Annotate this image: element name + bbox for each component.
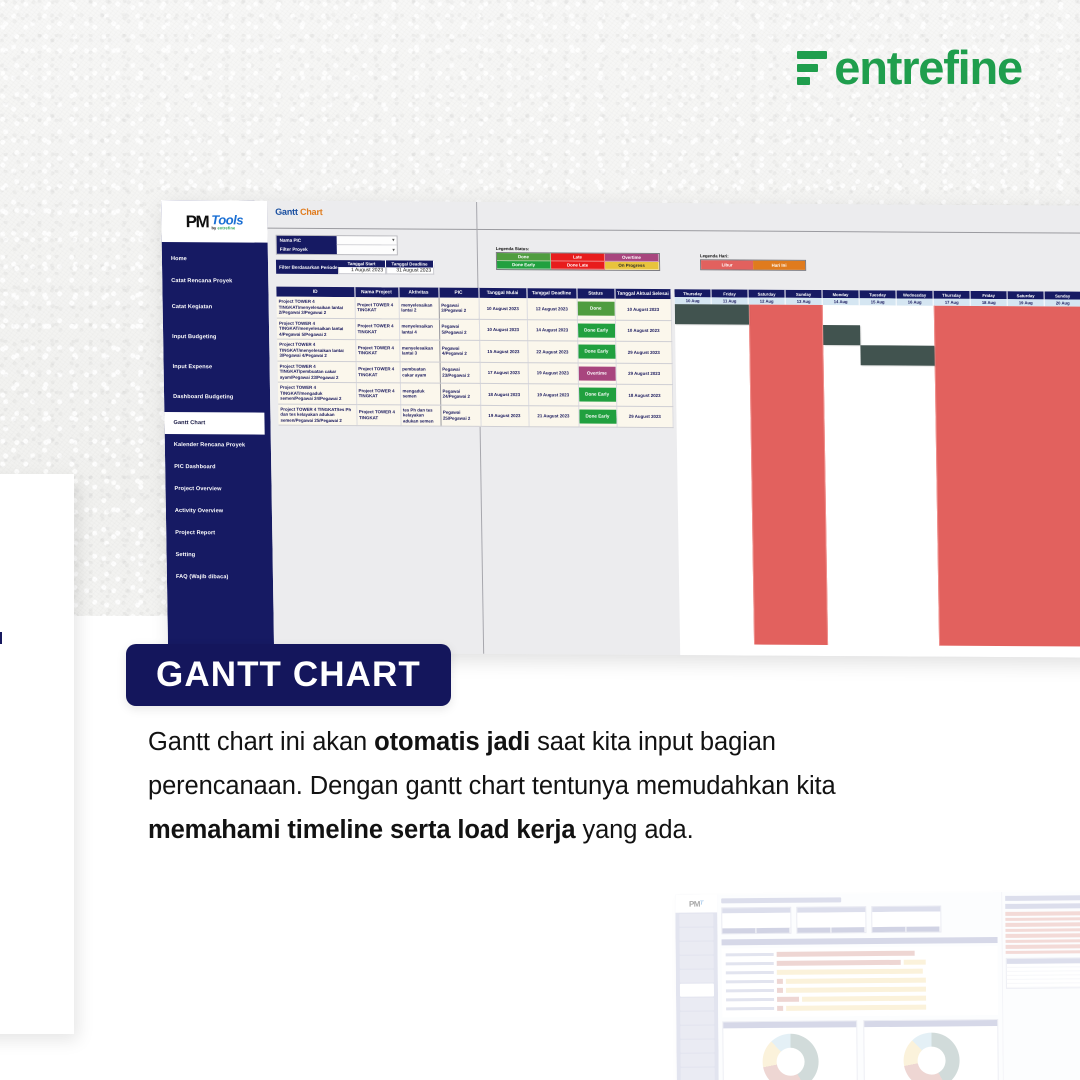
- cell-pic: Pegawai 25/Pegawai 2: [440, 405, 480, 427]
- cell-status: Done Early: [578, 406, 616, 428]
- col-id: ID: [276, 287, 354, 297]
- sidebar-item-pic-dashboard[interactable]: PIC Dashboard: [165, 456, 271, 479]
- thumb-sidebar: PMT: [675, 894, 719, 1080]
- thumb-nav-item: [680, 969, 714, 982]
- cell-project: Project TOWER 4 TINGKAT: [355, 318, 399, 340]
- thumb-kpi-cards: [721, 905, 997, 934]
- nama-pic-dropdown[interactable]: ▾: [337, 236, 397, 245]
- pm-logo-mark: PM: [185, 213, 208, 230]
- pm-tools-logo: PM Tools by entrefine: [161, 200, 268, 243]
- cell-aktivitas: menyelesaikan lantai 4: [399, 318, 439, 340]
- thumb-bar-row: [726, 994, 994, 1003]
- col-tanggal-deadline: Tanggal Deadline: [526, 288, 576, 298]
- sidebar-nav: Home Catat Rencana Proyek Catat Kegiatan…: [162, 242, 273, 589]
- vertical-divider: [476, 202, 484, 654]
- periode-label: Filter Berdasarkan Periode: [276, 260, 338, 274]
- cell-selesai: 29 August 2023: [615, 341, 672, 363]
- cell-mulai: 10 August 2023: [479, 298, 527, 319]
- thumb-right-title: [1005, 895, 1080, 901]
- adjacent-card-nav: [0, 632, 2, 644]
- thumb-right-bar: [1006, 944, 1080, 948]
- page-title-part2: Chart: [300, 207, 323, 217]
- thumb-nav-item: [680, 1011, 714, 1024]
- page-title-part1: Gantt: [275, 207, 300, 217]
- sidebar-item-project-report[interactable]: Project Report: [166, 522, 272, 545]
- gantt-day-column: Thursday10 Aug: [674, 289, 711, 304]
- section-badge-label: GANTT CHART: [156, 657, 421, 692]
- sidebar-item-catat-kegiatan[interactable]: Catat Kegiatan: [162, 292, 268, 323]
- legend-hari-grid: Libur Hari Ini: [700, 259, 806, 271]
- gantt-holiday-column: [934, 306, 1080, 647]
- cell-mulai: 10 August 2023: [479, 319, 527, 341]
- pm-logo-by: by entrefine: [211, 226, 243, 230]
- cell-selesai: 10 August 2023: [615, 320, 672, 342]
- legend-done-early: Done Early: [497, 261, 551, 269]
- table-body: Project TOWER 4 TINGKAT/menyelesaikan la…: [277, 297, 674, 428]
- cell-status: Overtime: [578, 363, 616, 385]
- cell-mulai: 15 August 2023: [479, 340, 527, 362]
- para-seg-2: otomatis jadi: [374, 728, 530, 756]
- table-row[interactable]: Project TOWER 4 TINGKAT/pembuatan cakar …: [278, 361, 673, 385]
- thumb-nav-item: [680, 955, 714, 968]
- gantt-day-column: Thursday17 Aug: [934, 291, 971, 306]
- cell-selesai: 29 August 2023: [616, 406, 673, 428]
- slide-canvas: entrefine PM Tools by entrefine Home Cat…: [0, 0, 1080, 1080]
- gantt-holiday-column: [749, 305, 828, 645]
- col-aktivitas: Aktivitas: [398, 287, 438, 297]
- gantt-day-column: Sunday13 Aug: [785, 290, 822, 305]
- entrefine-wordmark: entrefine: [834, 44, 1022, 91]
- thumb-nav-item: [680, 941, 714, 954]
- cell-status: Done Early: [578, 384, 616, 406]
- thumb-nav-item: [681, 1067, 715, 1080]
- cell-deadline: 12 August 2023: [527, 298, 577, 319]
- thumb-right-table: [1006, 957, 1080, 989]
- filter-proyek-dropdown[interactable]: ▾: [337, 245, 397, 254]
- cell-id: Project TOWER 4 TINGKAT/menyelesaikan la…: [277, 318, 355, 340]
- cell-aktivitas: pembuatan cakar ayam: [400, 361, 440, 383]
- cell-selesai: 18 August 2023: [616, 384, 673, 406]
- thumb-nav-item: [680, 1039, 714, 1052]
- thumb-right-bar: [1006, 939, 1080, 943]
- dashboard-preview-thumbnail: PMT: [675, 891, 1080, 1080]
- cell-aktivitas: tes Ph dan tes kelayakan adukan semen: [400, 404, 440, 426]
- thumb-donut-chart: [863, 1019, 999, 1080]
- thumb-nav-item: [680, 1025, 714, 1038]
- cell-project: Project TOWER 4 TINGKAT: [356, 383, 400, 405]
- cell-project: Project TOWER 4 TINGKAT: [356, 361, 400, 383]
- cell-id: Project TOWER 4 TINGKAT/tes Ph dan tes k…: [278, 404, 356, 426]
- tanggal-deadline-input[interactable]: 31 August 2023: [386, 267, 434, 274]
- cell-selesai: 29 August 2023: [616, 363, 673, 385]
- cell-selesai: 10 August 2023: [615, 299, 672, 320]
- cell-mulai: 17 August 2023: [480, 362, 528, 384]
- cell-mulai: 18 August 2023: [480, 383, 528, 405]
- sidebar-item-catat-rencana-proyek[interactable]: Catat Rencana Proyek: [162, 270, 268, 293]
- thumb-logo: PMT: [675, 894, 717, 912]
- legend-hari-title: Legenda Hari:: [700, 253, 806, 259]
- legend-hari: Legenda Hari: Libur Hari Ini: [700, 253, 806, 271]
- legend-status-title: Legenda Status:: [496, 246, 660, 252]
- col-tanggal-mulai: Tanggal Mulai: [478, 288, 526, 298]
- cell-status: Done Early: [577, 341, 615, 363]
- thumb-right-bar: [1005, 911, 1080, 915]
- entrefine-logo: entrefine: [797, 44, 1022, 91]
- thumb-nav-item: [679, 913, 713, 926]
- gantt-data-table: ID Nama Project Aktivitas PIC Tanggal Mu…: [276, 287, 673, 428]
- thumb-bar-row: [726, 976, 994, 985]
- sidebar-item-input-budgeting[interactable]: Input Budgeting: [163, 322, 269, 353]
- gantt-task-bar: [675, 304, 749, 324]
- nama-pic-label: Nama PIC: [277, 236, 337, 245]
- thumb-bar-chart: [722, 946, 999, 1017]
- cell-pic: Pegawai 23/Pegawai 2: [440, 362, 480, 384]
- thumb-right-bar: [1006, 950, 1080, 954]
- periode-filter: Filter Berdasarkan Periode Tanggal Start…: [276, 260, 434, 275]
- gantt-body: [675, 304, 1080, 647]
- cell-status: Done: [577, 299, 615, 320]
- thumb-bar-row: [726, 985, 994, 994]
- filter-panel: Nama PIC Filter Proyek ▾ ▾: [276, 235, 398, 256]
- thumb-kpi-card: [871, 905, 941, 933]
- cell-project: Project TOWER 4 TINGKAT: [356, 404, 400, 426]
- cell-aktivitas: menyelesaikan lantai 3: [399, 340, 439, 362]
- sidebar-item-kalender-rencana-proyek[interactable]: Kalender Rencana Proyek: [165, 434, 271, 457]
- gantt-day-column: Saturday12 Aug: [748, 290, 785, 305]
- thumb-nav-item: [681, 1053, 715, 1066]
- cell-project: Project TOWER 4 TINGKAT: [355, 297, 399, 318]
- table-row[interactable]: Project TOWER 4 TINGKAT/tes Ph dan tes k…: [278, 404, 673, 428]
- thumb-bar-row: [726, 949, 994, 958]
- cell-deadline: 19 August 2023: [528, 384, 578, 406]
- tanggal-start-input[interactable]: 1 August 2023: [338, 267, 386, 274]
- gantt-day-column: Sunday20 Aug: [1045, 291, 1080, 306]
- thumb-right-bar: [1005, 933, 1080, 937]
- thumb-bar-row: [726, 1003, 994, 1012]
- legend-status: Legenda Status: Done Late Overtime Done …: [496, 246, 660, 271]
- filter-proyek-label: Filter Proyek: [277, 245, 337, 254]
- thumb-main: [717, 892, 1003, 1080]
- thumb-right-bar: [1005, 922, 1080, 926]
- legend-status-grid: Done Late Overtime Done Early Done Late …: [496, 252, 660, 271]
- gantt-day-column: Wednesday16 Aug: [897, 290, 934, 305]
- table-row[interactable]: Project TOWER 4 TINGKAT/menyelesaikan la…: [277, 318, 672, 342]
- section-badge: GANTT CHART: [126, 644, 451, 706]
- thumb-right-title: [1005, 903, 1080, 909]
- cell-aktivitas: menyelesaikan lantai 2: [399, 297, 439, 318]
- legend-on-progress: On Progress: [605, 262, 659, 270]
- sidebar-item-dashboard-budgeting[interactable]: Dashboard Budgeting: [164, 382, 270, 413]
- gantt-day-column: Monday14 Aug: [822, 290, 859, 305]
- cell-deadline: 19 August 2023: [528, 362, 578, 384]
- para-seg-5: yang ada.: [575, 816, 693, 844]
- table-row[interactable]: Project TOWER 4 TINGKAT/menyelesaikan la…: [277, 297, 672, 320]
- cell-id: Project TOWER 4 TINGKAT/menyelesaikan la…: [277, 339, 355, 361]
- cell-aktivitas: mengaduk semen: [400, 383, 440, 405]
- thumb-nav-item: [679, 927, 713, 940]
- cell-pic: Pegawai 4/Pegawai 2: [439, 340, 479, 362]
- app-sidebar: PM Tools by entrefine Home Catat Rencana…: [161, 200, 274, 653]
- col-pic: PIC: [438, 288, 478, 298]
- legend-hari-ini: Hari Ini: [753, 261, 805, 270]
- entrefine-bars-icon: [797, 51, 827, 85]
- thumb-nav-item-active: [680, 983, 714, 996]
- sidebar-item-home[interactable]: Home: [162, 248, 268, 271]
- thumb-title: [721, 897, 841, 903]
- sidebar-item-faq[interactable]: FAQ (Wajib dibaca): [167, 566, 273, 589]
- col-status: Status: [576, 289, 614, 299]
- sidebar-item-gantt-chart[interactable]: Gantt Chart: [164, 412, 264, 435]
- gantt-chart-screenshot: PM Tools by entrefine Home Catat Rencana…: [161, 200, 1080, 658]
- legend-done-late: Done Late: [551, 261, 605, 269]
- description-paragraph: Gantt chart ini akan otomatis jadi saat …: [148, 720, 908, 852]
- col-project: Nama Project: [354, 287, 398, 297]
- thumb-right-bar: [1005, 928, 1080, 932]
- gantt-task-bar: [823, 325, 860, 345]
- col-tanggal-aktual-selesai: Tanggal Aktual Selesai: [614, 289, 671, 299]
- cell-pic: Pegawai 5/Pegawai 2: [439, 319, 479, 341]
- app-main-area: Gantt Chart Nama PIC Filter Proyek ▾ ▾ F…: [267, 201, 1080, 658]
- adjacent-slide-card: [0, 474, 74, 1034]
- para-seg-1: Gantt chart ini akan: [148, 728, 374, 756]
- gantt-day-column: Friday18 Aug: [971, 291, 1008, 306]
- cell-status: Done Early: [577, 320, 615, 342]
- thumb-right-bar: [1005, 917, 1080, 921]
- cell-deadline: 14 August 2023: [527, 319, 577, 341]
- thumb-right-panel: [1001, 891, 1080, 1080]
- thumb-kpi-card: [796, 906, 866, 934]
- gantt-timeline: Thursday10 Aug Friday11 Aug Saturday12 A…: [674, 289, 1080, 658]
- thumb-donut-chart: [722, 1020, 858, 1080]
- table-row[interactable]: Project TOWER 4 TINGKAT/menyelesaikan la…: [277, 339, 672, 363]
- thumb-donut-charts: [722, 1019, 999, 1080]
- title-divider: [267, 228, 1080, 234]
- cell-pic: Pegawai 24/Pegawai 2: [440, 383, 480, 405]
- thumb-section-header: [722, 937, 998, 945]
- cell-id: Project TOWER 4 TINGKAT/pembuatan cakar …: [278, 361, 356, 383]
- thumb-nav-item: [680, 997, 714, 1010]
- para-seg-4: memahami timeline serta load kerja: [148, 816, 575, 844]
- sidebar-item-setting[interactable]: Setting: [166, 544, 272, 567]
- sidebar-item-activity-overview[interactable]: Activity Overview: [166, 500, 272, 523]
- cell-project: Project TOWER 4 TINGKAT: [355, 340, 399, 362]
- gantt-task-bar: [860, 345, 934, 365]
- sidebar-item-project-overview[interactable]: Project Overview: [165, 478, 271, 501]
- gantt-day-column: Friday11 Aug: [711, 289, 748, 304]
- table-row[interactable]: Project TOWER 4 TINGKAT/mengaduk semen/P…: [278, 382, 673, 406]
- gantt-day-column: Tuesday15 Aug: [860, 290, 897, 305]
- cell-deadline: 22 August 2023: [527, 341, 577, 363]
- cell-id: Project TOWER 4 TINGKAT/menyelesaikan la…: [277, 297, 355, 318]
- gantt-day-column: Saturday19 Aug: [1008, 291, 1045, 306]
- legend-libur: Libur: [701, 260, 753, 269]
- cell-id: Project TOWER 4 TINGKAT/mengaduk semen/P…: [278, 382, 356, 404]
- sidebar-item-input-expense[interactable]: Input Expense: [163, 352, 269, 383]
- thumb-kpi-card: [721, 907, 791, 935]
- cell-pic: Pegawai 3/Pegawai 2: [439, 298, 479, 319]
- thumb-bar-row: [726, 958, 994, 967]
- cell-mulai: 19 August 2023: [480, 405, 528, 427]
- cell-deadline: 21 August 2023: [528, 405, 578, 427]
- thumb-bar-row: [726, 967, 994, 976]
